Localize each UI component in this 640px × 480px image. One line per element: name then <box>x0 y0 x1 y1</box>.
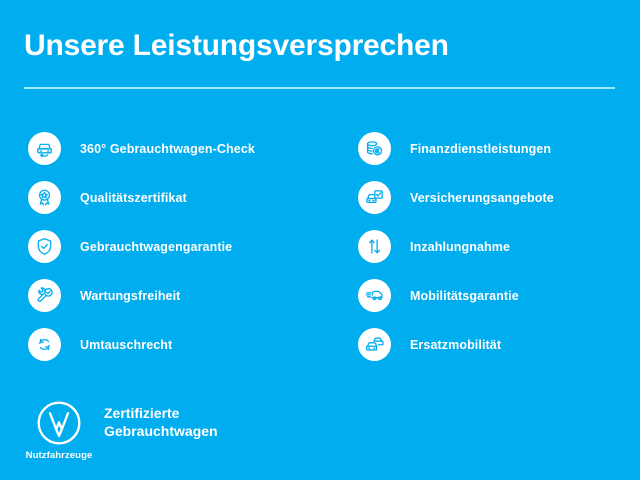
coins-euro-icon <box>358 132 391 165</box>
page-title: Unsere Leistungsversprechen <box>24 28 616 64</box>
benefit-label: Gebrauchtwagengarantie <box>80 240 232 254</box>
brand-mark: Nutzfahrzeuge <box>26 398 92 461</box>
benefits-column-right: Finanzdienstleistungen Versicherungsange… <box>358 124 628 369</box>
benefit-label: Mobilitätsgarantie <box>410 289 519 303</box>
brand-claim-line-1: Zertifizierte <box>104 404 218 422</box>
arrows-up-down-icon <box>358 230 391 263</box>
benefit-label: 360° Gebrauchtwagen-Check <box>80 142 255 156</box>
benefit-item[interactable]: 360° Gebrauchtwagen-Check <box>28 124 358 173</box>
shield-check-icon <box>28 230 61 263</box>
benefit-label: Wartungsfreiheit <box>80 289 180 303</box>
benefit-label: Versicherungsangebote <box>410 191 554 205</box>
brand-claim: Zertifizierte Gebrauchtwagen <box>104 404 218 440</box>
benefit-item[interactable]: Gebrauchtwagengarantie <box>28 222 358 271</box>
benefit-label: Ersatzmobilität <box>410 338 501 352</box>
car-inspection-360-icon <box>28 132 61 165</box>
benefit-label: Inzahlungnahme <box>410 240 510 254</box>
benefit-item[interactable]: Qualitätszertifikat <box>28 173 358 222</box>
benefit-label: Finanzdienstleistungen <box>410 142 551 156</box>
benefit-item[interactable]: Wartungsfreiheit <box>28 271 358 320</box>
benefit-item[interactable]: Ersatzmobilität <box>358 320 628 369</box>
vw-roundel-icon <box>34 398 84 448</box>
wrench-check-icon <box>28 279 61 312</box>
exchange-arrows-icon <box>28 328 61 361</box>
promo-poster: Unsere Leistungsversprechen 360° Gebrauc… <box>0 0 640 480</box>
brand-subtitle: Nutzfahrzeuge <box>26 450 93 461</box>
car-document-check-icon <box>358 181 391 214</box>
header: Unsere Leistungsversprechen <box>24 28 616 64</box>
quality-seal-icon <box>28 181 61 214</box>
brand-claim-line-2: Gebrauchtwagen <box>104 422 218 440</box>
benefits-section: 360° Gebrauchtwagen-Check Qualitätszerti… <box>0 124 640 369</box>
benefit-item[interactable]: Finanzdienstleistungen <box>358 124 628 173</box>
benefit-item[interactable]: Umtauschrecht <box>28 320 358 369</box>
benefit-label: Qualitätszertifikat <box>80 191 187 205</box>
two-cars-icon <box>358 328 391 361</box>
benefit-item[interactable]: Mobilitätsgarantie <box>358 271 628 320</box>
brand-lockup: Nutzfahrzeuge Zertifizierte Gebrauchtwag… <box>26 398 218 461</box>
title-divider <box>24 87 615 89</box>
van-check-icon <box>358 279 391 312</box>
benefit-item[interactable]: Versicherungsangebote <box>358 173 628 222</box>
benefits-column-left: 360° Gebrauchtwagen-Check Qualitätszerti… <box>28 124 358 369</box>
benefit-item[interactable]: Inzahlungnahme <box>358 222 628 271</box>
benefit-label: Umtauschrecht <box>80 338 172 352</box>
